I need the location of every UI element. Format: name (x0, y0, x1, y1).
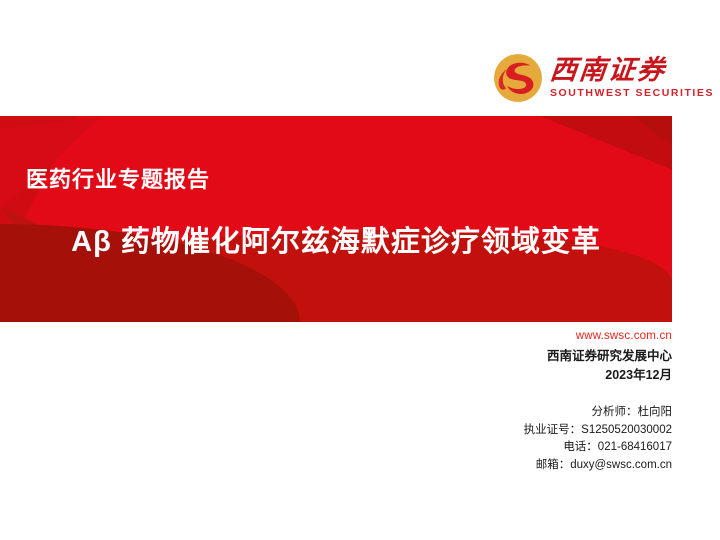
report-cover-page: 西南证券 SOUTHWEST SECURITIES 医药行业专题报告 Aβ 药物… (0, 0, 720, 540)
analyst-phone: 电话：021-68416017 (272, 439, 672, 457)
website-url[interactable]: www.swsc.com.cn (272, 328, 672, 344)
title-banner: 医药行业专题报告 Aβ 药物催化阿尔兹海默症诊疗领域变革 (0, 116, 672, 322)
publication-date: 2023年12月 (272, 366, 672, 385)
brand-logo: 西南证券 SOUTHWEST SECURITIES (492, 46, 682, 110)
analyst-email[interactable]: 邮箱：duxy@swsc.com.cn (272, 457, 672, 475)
publisher-info: www.swsc.com.cn 西南证券研究发展中心 2023年12月 (272, 328, 672, 385)
report-headline: Aβ 药物催化阿尔兹海默症诊疗领域变革 (0, 218, 672, 260)
analyst-name: 分析师：杜向阳 (272, 404, 672, 422)
report-kicker: 医药行业专题报告 (26, 162, 210, 194)
logo-chinese-name: 西南证券 (549, 57, 716, 85)
analyst-license-id: 执业证号：S1250520030002 (272, 422, 672, 440)
organization-name: 西南证券研究发展中心 (272, 347, 672, 366)
analyst-details: 分析师：杜向阳 执业证号：S1250520030002 电话：021-68416… (272, 404, 672, 474)
banner-curve-light (0, 266, 672, 322)
logo-wordmark: 西南证券 SOUTHWEST SECURITIES (550, 57, 714, 100)
logo-english-name: SOUTHWEST SECURITIES (550, 87, 714, 100)
southwest-securities-swirl-logo-icon (492, 52, 544, 104)
